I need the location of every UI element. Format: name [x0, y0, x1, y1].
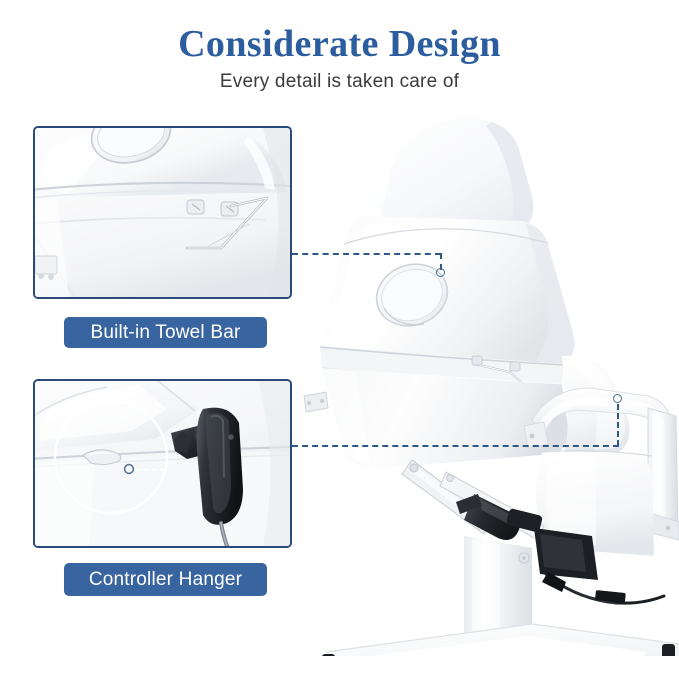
product-image: [296, 96, 679, 656]
infographic-page: Considerate Design Every detail is taken…: [0, 0, 679, 679]
detail-photo-controller-hanger: [35, 381, 290, 546]
feature-badge-controller-hanger[interactable]: Controller Hanger: [64, 563, 267, 596]
connector-line-horizontal-2: [292, 445, 619, 447]
page-title: Considerate Design: [0, 22, 679, 66]
callout-marker-controller-hanger: [613, 394, 622, 403]
detail-panel-towel-bar: [33, 126, 292, 299]
detail-panel-controller-hanger: [33, 379, 292, 548]
feature-badge-towel-bar[interactable]: Built-in Towel Bar: [64, 317, 267, 348]
header: Considerate Design Every detail is taken…: [0, 22, 679, 94]
page-subtitle: Every detail is taken care of: [0, 70, 679, 94]
connector-line-vertical-2: [617, 404, 619, 446]
connector-line-horizontal-1: [292, 253, 441, 255]
callout-marker-towel-bar: [436, 268, 445, 277]
detail-photo-towel-bar: [35, 128, 290, 297]
